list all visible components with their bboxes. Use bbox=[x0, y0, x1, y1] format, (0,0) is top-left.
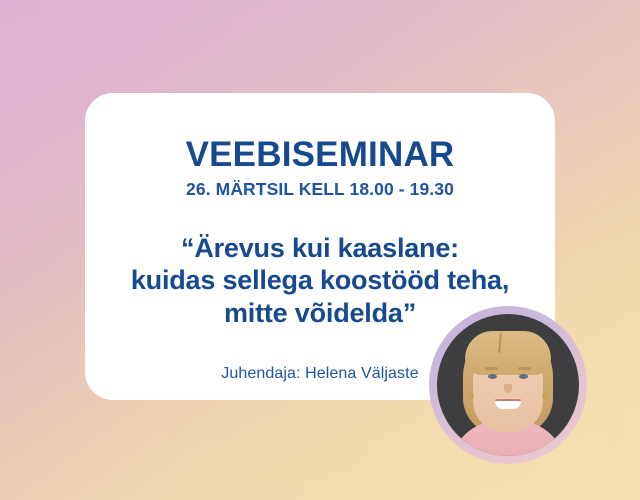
portrait-earring-right bbox=[542, 393, 547, 398]
portrait-eyebrow-right bbox=[518, 367, 531, 370]
presenter-photo bbox=[437, 314, 579, 456]
portrait-earring-left bbox=[469, 393, 474, 398]
portrait-eyebrow-left bbox=[485, 367, 498, 370]
portrait-nose bbox=[504, 384, 512, 393]
webinar-poster: VEEBISEMINAR 26. MÄRTSIL KELL 18.00 - 19… bbox=[0, 0, 640, 500]
presenter-avatar bbox=[429, 306, 587, 464]
portrait-hair-front bbox=[465, 331, 551, 375]
portrait-eye-right bbox=[519, 374, 528, 379]
webinar-datetime: 26. MÄRTSIL KELL 18.00 - 19.30 bbox=[85, 172, 555, 199]
webinar-label: VEEBISEMINAR bbox=[85, 93, 555, 172]
portrait-eye-left bbox=[488, 374, 497, 379]
portrait-smile bbox=[495, 399, 521, 409]
